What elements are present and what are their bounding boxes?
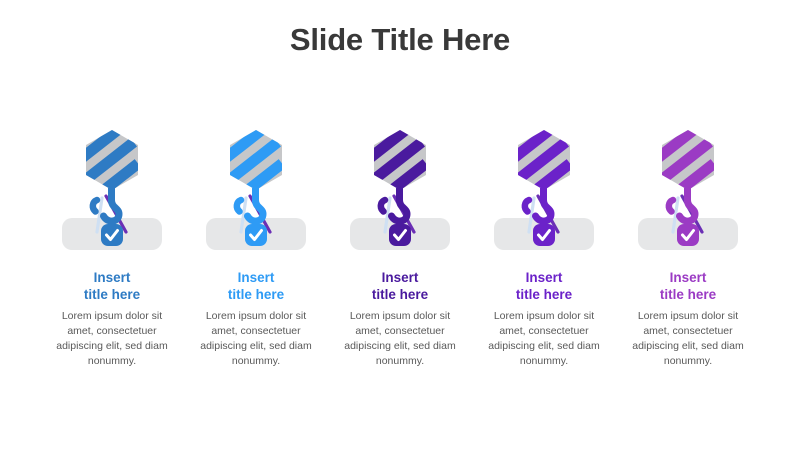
item-title-line2: title here: [84, 287, 140, 302]
item-title-line2: title here: [660, 287, 716, 302]
item-title-3: Insert title here: [330, 270, 470, 304]
item-title-4: Insert title here: [474, 270, 614, 304]
check-badge-icon: [389, 224, 411, 246]
item-body-1: Lorem ipsum dolor sit amet, consectetuer…: [49, 309, 175, 370]
item-title-5: Insert title here: [618, 270, 758, 304]
check-badge-icon: [245, 224, 267, 246]
item-body-4: Lorem ipsum dolor sit amet, consectetuer…: [481, 309, 607, 370]
slide-canvas: Slide Title Here: [0, 0, 800, 450]
item-title-line1: Insert: [670, 270, 707, 285]
check-badge-icon: [101, 224, 123, 246]
crane-hook-icon: [328, 112, 472, 252]
infographic-columns: Insert title here Lorem ipsum dolor sit …: [40, 112, 760, 370]
item-body-5: Lorem ipsum dolor sit amet, consectetuer…: [625, 309, 751, 370]
crane-hook-icon: [40, 112, 184, 252]
item-title-line2: title here: [228, 287, 284, 302]
item-title-line2: title here: [372, 287, 428, 302]
infographic-item-1[interactable]: Insert title here Lorem ipsum dolor sit …: [40, 112, 184, 370]
item-title-2: Insert title here: [186, 270, 326, 304]
item-title-line1: Insert: [526, 270, 563, 285]
infographic-item-5[interactable]: Insert title here Lorem ipsum dolor sit …: [616, 112, 760, 370]
crane-hook-icon: [184, 112, 328, 252]
item-title-line1: Insert: [382, 270, 419, 285]
page-title: Slide Title Here: [0, 22, 800, 58]
item-title-line1: Insert: [238, 270, 275, 285]
item-title-1: Insert title here: [42, 270, 182, 304]
item-title-line2: title here: [516, 287, 572, 302]
infographic-item-2[interactable]: Insert title here Lorem ipsum dolor sit …: [184, 112, 328, 370]
infographic-item-4[interactable]: Insert title here Lorem ipsum dolor sit …: [472, 112, 616, 370]
crane-hook-icon: [616, 112, 760, 252]
check-badge-icon: [533, 224, 555, 246]
item-title-line1: Insert: [94, 270, 131, 285]
infographic-item-3[interactable]: Insert title here Lorem ipsum dolor sit …: [328, 112, 472, 370]
check-badge-icon: [677, 224, 699, 246]
item-body-2: Lorem ipsum dolor sit amet, consectetuer…: [193, 309, 319, 370]
item-body-3: Lorem ipsum dolor sit amet, consectetuer…: [337, 309, 463, 370]
crane-hook-icon: [472, 112, 616, 252]
